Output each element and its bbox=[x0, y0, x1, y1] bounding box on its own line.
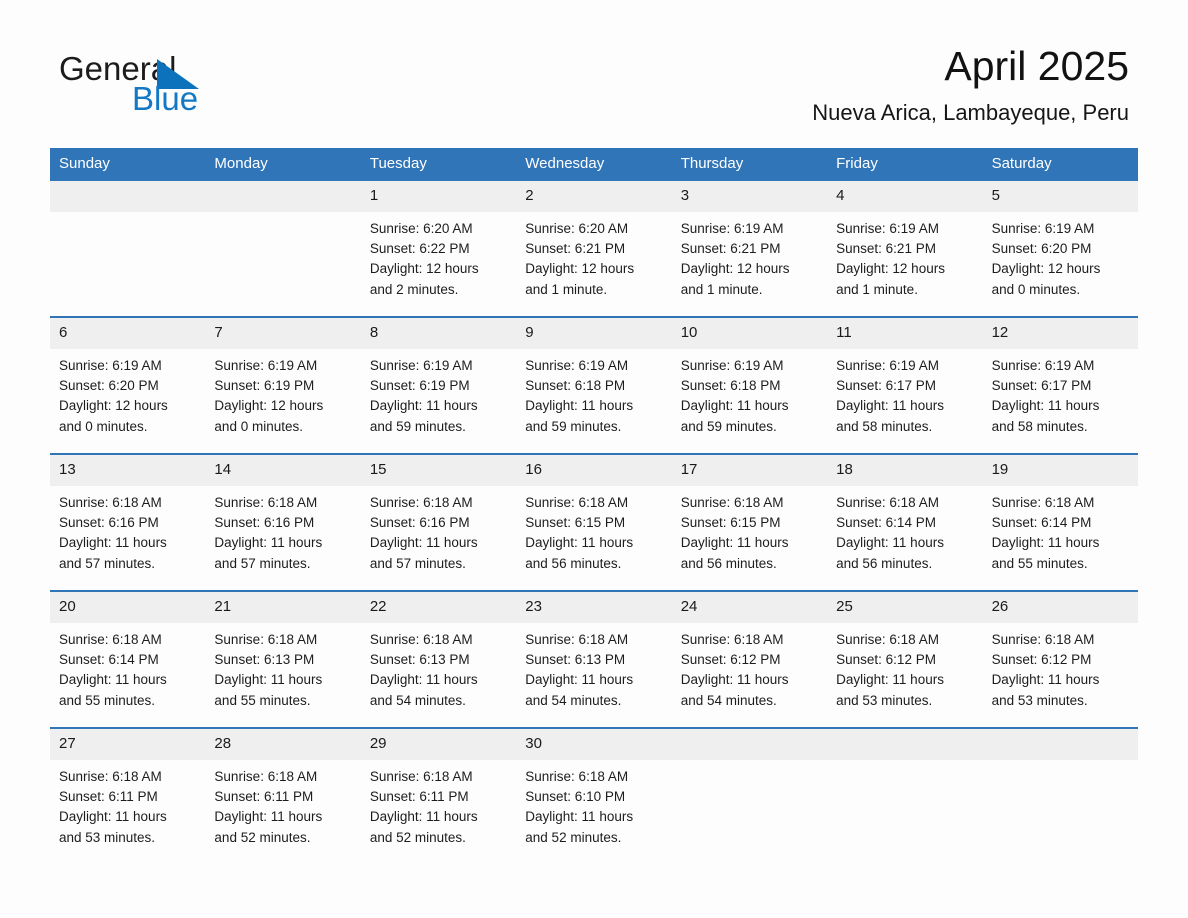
day-detail-line: Sunrise: 6:19 AM bbox=[214, 356, 350, 376]
day-detail-line: Daylight: 11 hours bbox=[214, 670, 350, 690]
day-detail-line: Sunset: 6:20 PM bbox=[992, 239, 1128, 259]
day-cell-empty bbox=[983, 760, 1138, 864]
day-detail-line: and 56 minutes. bbox=[525, 554, 661, 574]
day-number[interactable]: 27 bbox=[50, 729, 205, 760]
day-cell[interactable]: Sunrise: 6:18 AMSunset: 6:16 PMDaylight:… bbox=[205, 486, 360, 590]
day-detail-line: Sunset: 6:21 PM bbox=[681, 239, 817, 259]
day-number[interactable]: 28 bbox=[205, 729, 360, 760]
day-cell[interactable]: Sunrise: 6:18 AMSunset: 6:13 PMDaylight:… bbox=[205, 623, 360, 727]
day-cell[interactable]: Sunrise: 6:19 AMSunset: 6:21 PMDaylight:… bbox=[672, 212, 827, 316]
day-detail-line: Sunset: 6:11 PM bbox=[370, 787, 506, 807]
day-cell[interactable]: Sunrise: 6:18 AMSunset: 6:12 PMDaylight:… bbox=[827, 623, 982, 727]
day-detail-line: Sunset: 6:19 PM bbox=[214, 376, 350, 396]
day-detail-line: and 57 minutes. bbox=[370, 554, 506, 574]
day-detail-line: Sunrise: 6:18 AM bbox=[681, 493, 817, 513]
day-number[interactable]: 22 bbox=[361, 592, 516, 623]
day-detail-line: Daylight: 11 hours bbox=[59, 533, 195, 553]
day-detail-line: Sunset: 6:17 PM bbox=[836, 376, 972, 396]
day-number[interactable]: 15 bbox=[361, 455, 516, 486]
weekday-header-wednesday: Wednesday bbox=[516, 148, 671, 181]
calendar-week-row: 27282930Sunrise: 6:18 AMSunset: 6:11 PMD… bbox=[50, 727, 1138, 864]
page-subtitle: Nueva Arica, Lambayeque, Peru bbox=[812, 98, 1129, 128]
day-detail-line: Sunset: 6:19 PM bbox=[370, 376, 506, 396]
day-detail-line: Daylight: 11 hours bbox=[525, 533, 661, 553]
calendar-week-row: 13141516171819Sunrise: 6:18 AMSunset: 6:… bbox=[50, 453, 1138, 590]
day-number-empty bbox=[827, 729, 982, 760]
day-detail-line: Sunrise: 6:18 AM bbox=[214, 493, 350, 513]
day-detail-line: Daylight: 11 hours bbox=[992, 670, 1128, 690]
weekday-header-tuesday: Tuesday bbox=[361, 148, 516, 181]
day-detail-line: and 55 minutes. bbox=[59, 691, 195, 711]
day-cell[interactable]: Sunrise: 6:19 AMSunset: 6:19 PMDaylight:… bbox=[205, 349, 360, 453]
day-detail-line: Daylight: 11 hours bbox=[214, 807, 350, 827]
day-cell[interactable]: Sunrise: 6:18 AMSunset: 6:14 PMDaylight:… bbox=[50, 623, 205, 727]
masthead: General Blue April 2025 Nueva Arica, Lam… bbox=[50, 0, 1138, 148]
day-number[interactable]: 26 bbox=[983, 592, 1138, 623]
day-detail-line: and 53 minutes. bbox=[836, 691, 972, 711]
day-detail-line: Daylight: 11 hours bbox=[525, 807, 661, 827]
day-cell-empty bbox=[672, 760, 827, 864]
day-detail-line: Daylight: 11 hours bbox=[836, 396, 972, 416]
day-detail-line: Sunset: 6:18 PM bbox=[525, 376, 661, 396]
day-detail-line: and 54 minutes. bbox=[525, 691, 661, 711]
day-detail-line: Sunrise: 6:18 AM bbox=[214, 767, 350, 787]
day-detail-line: and 54 minutes. bbox=[370, 691, 506, 711]
day-number[interactable]: 4 bbox=[827, 181, 982, 212]
calendar-page: General Blue April 2025 Nueva Arica, Lam… bbox=[0, 0, 1188, 918]
day-detail-line: and 58 minutes. bbox=[992, 417, 1128, 437]
day-detail-line: and 55 minutes. bbox=[992, 554, 1128, 574]
week-daynumber-band: 20212223242526 bbox=[50, 592, 1138, 623]
day-detail-line: Sunset: 6:10 PM bbox=[525, 787, 661, 807]
day-cell[interactable]: Sunrise: 6:18 AMSunset: 6:11 PMDaylight:… bbox=[50, 760, 205, 864]
day-number[interactable]: 11 bbox=[827, 318, 982, 349]
day-detail-line: and 53 minutes. bbox=[992, 691, 1128, 711]
day-detail-line: Sunset: 6:13 PM bbox=[370, 650, 506, 670]
day-detail-line: Sunset: 6:16 PM bbox=[214, 513, 350, 533]
day-detail-line: Sunrise: 6:18 AM bbox=[59, 630, 195, 650]
day-detail-line: and 1 minute. bbox=[836, 280, 972, 300]
day-detail-line: Sunset: 6:18 PM bbox=[681, 376, 817, 396]
day-cell[interactable]: Sunrise: 6:18 AMSunset: 6:12 PMDaylight:… bbox=[672, 623, 827, 727]
day-detail-line: Daylight: 11 hours bbox=[525, 670, 661, 690]
day-number[interactable]: 14 bbox=[205, 455, 360, 486]
day-detail-line: Sunrise: 6:18 AM bbox=[370, 630, 506, 650]
day-number[interactable]: 19 bbox=[983, 455, 1138, 486]
calendar-week-row: 20212223242526Sunrise: 6:18 AMSunset: 6:… bbox=[50, 590, 1138, 727]
day-detail-line: Sunrise: 6:19 AM bbox=[59, 356, 195, 376]
day-detail-line: Sunrise: 6:18 AM bbox=[59, 493, 195, 513]
day-detail-line: Sunset: 6:15 PM bbox=[525, 513, 661, 533]
day-detail-line: Sunset: 6:12 PM bbox=[836, 650, 972, 670]
day-number[interactable]: 1 bbox=[361, 181, 516, 212]
day-detail-line: and 59 minutes. bbox=[370, 417, 506, 437]
day-detail-line: and 58 minutes. bbox=[836, 417, 972, 437]
day-detail-line: and 0 minutes. bbox=[992, 280, 1128, 300]
day-detail-line: Sunset: 6:22 PM bbox=[370, 239, 506, 259]
day-detail-line: Sunrise: 6:18 AM bbox=[836, 630, 972, 650]
day-number[interactable]: 29 bbox=[361, 729, 516, 760]
day-detail-line: Daylight: 11 hours bbox=[525, 396, 661, 416]
day-detail-line: Sunrise: 6:18 AM bbox=[525, 767, 661, 787]
day-cell[interactable]: Sunrise: 6:19 AMSunset: 6:19 PMDaylight:… bbox=[361, 349, 516, 453]
day-detail-line: and 59 minutes. bbox=[681, 417, 817, 437]
calendar-grid: SundayMondayTuesdayWednesdayThursdayFrid… bbox=[50, 148, 1138, 864]
general-blue-logo[interactable]: General Blue bbox=[59, 50, 259, 120]
day-cell[interactable]: Sunrise: 6:19 AMSunset: 6:17 PMDaylight:… bbox=[827, 349, 982, 453]
day-detail-line: Sunset: 6:17 PM bbox=[992, 376, 1128, 396]
day-detail-line: Sunset: 6:12 PM bbox=[992, 650, 1128, 670]
week-daynumber-band: 13141516171819 bbox=[50, 455, 1138, 486]
day-detail-line: Sunrise: 6:18 AM bbox=[214, 630, 350, 650]
day-detail-line: and 56 minutes. bbox=[681, 554, 817, 574]
day-number[interactable]: 20 bbox=[50, 592, 205, 623]
day-cell[interactable]: Sunrise: 6:18 AMSunset: 6:10 PMDaylight:… bbox=[516, 760, 671, 864]
day-number[interactable]: 23 bbox=[516, 592, 671, 623]
day-detail-line: and 55 minutes. bbox=[214, 691, 350, 711]
day-detail-line: and 52 minutes. bbox=[525, 828, 661, 848]
day-detail-line: Sunrise: 6:18 AM bbox=[370, 493, 506, 513]
day-detail-line: Daylight: 11 hours bbox=[370, 807, 506, 827]
day-detail-line: Daylight: 11 hours bbox=[370, 533, 506, 553]
day-number[interactable]: 6 bbox=[50, 318, 205, 349]
week-cell-bodies: Sunrise: 6:18 AMSunset: 6:11 PMDaylight:… bbox=[50, 760, 1138, 864]
day-number[interactable]: 10 bbox=[672, 318, 827, 349]
day-detail-line: Sunset: 6:13 PM bbox=[525, 650, 661, 670]
day-number[interactable]: 24 bbox=[672, 592, 827, 623]
calendar-week-row: 6789101112Sunrise: 6:19 AMSunset: 6:20 P… bbox=[50, 316, 1138, 453]
day-detail-line: Sunset: 6:14 PM bbox=[992, 513, 1128, 533]
week-daynumber-band: 12345 bbox=[50, 181, 1138, 212]
day-number[interactable]: 13 bbox=[50, 455, 205, 486]
day-cell[interactable]: Sunrise: 6:18 AMSunset: 6:13 PMDaylight:… bbox=[516, 623, 671, 727]
day-detail-line: Sunrise: 6:19 AM bbox=[681, 356, 817, 376]
weekday-header-saturday: Saturday bbox=[983, 148, 1138, 181]
day-cell[interactable]: Sunrise: 6:18 AMSunset: 6:14 PMDaylight:… bbox=[983, 486, 1138, 590]
day-detail-line: Sunrise: 6:19 AM bbox=[836, 356, 972, 376]
day-number[interactable]: 5 bbox=[983, 181, 1138, 212]
day-detail-line: and 0 minutes. bbox=[214, 417, 350, 437]
day-detail-line: Sunset: 6:21 PM bbox=[836, 239, 972, 259]
day-detail-line: Sunset: 6:11 PM bbox=[214, 787, 350, 807]
day-detail-line: Sunrise: 6:19 AM bbox=[836, 219, 972, 239]
day-detail-line: and 53 minutes. bbox=[59, 828, 195, 848]
day-detail-line: and 1 minute. bbox=[525, 280, 661, 300]
day-detail-line: Daylight: 12 hours bbox=[681, 259, 817, 279]
day-number[interactable]: 30 bbox=[516, 729, 671, 760]
day-detail-line: Daylight: 12 hours bbox=[525, 259, 661, 279]
day-detail-line: and 56 minutes. bbox=[836, 554, 972, 574]
day-detail-line: Sunset: 6:13 PM bbox=[214, 650, 350, 670]
calendar-week-row: 12345Sunrise: 6:20 AMSunset: 6:22 PMDayl… bbox=[50, 181, 1138, 316]
day-detail-line: and 54 minutes. bbox=[681, 691, 817, 711]
day-detail-line: Sunset: 6:11 PM bbox=[59, 787, 195, 807]
day-number[interactable]: 21 bbox=[205, 592, 360, 623]
day-detail-line: Sunrise: 6:18 AM bbox=[59, 767, 195, 787]
day-detail-line: Sunset: 6:14 PM bbox=[59, 650, 195, 670]
day-detail-line: Sunrise: 6:20 AM bbox=[525, 219, 661, 239]
day-number[interactable]: 7 bbox=[205, 318, 360, 349]
day-detail-line: Daylight: 11 hours bbox=[992, 533, 1128, 553]
day-detail-line: and 52 minutes. bbox=[370, 828, 506, 848]
week-cell-bodies: Sunrise: 6:18 AMSunset: 6:14 PMDaylight:… bbox=[50, 623, 1138, 727]
day-detail-line: Sunrise: 6:19 AM bbox=[681, 219, 817, 239]
day-detail-line: and 1 minute. bbox=[681, 280, 817, 300]
day-cell[interactable]: Sunrise: 6:18 AMSunset: 6:12 PMDaylight:… bbox=[983, 623, 1138, 727]
day-detail-line: Daylight: 11 hours bbox=[214, 533, 350, 553]
day-detail-line: Sunrise: 6:18 AM bbox=[681, 630, 817, 650]
day-number-empty bbox=[205, 181, 360, 212]
day-number-empty bbox=[672, 729, 827, 760]
day-cell[interactable]: Sunrise: 6:18 AMSunset: 6:11 PMDaylight:… bbox=[361, 760, 516, 864]
day-detail-line: Sunrise: 6:19 AM bbox=[992, 219, 1128, 239]
week-cell-bodies: Sunrise: 6:18 AMSunset: 6:16 PMDaylight:… bbox=[50, 486, 1138, 590]
day-number[interactable]: 9 bbox=[516, 318, 671, 349]
day-cell[interactable]: Sunrise: 6:18 AMSunset: 6:14 PMDaylight:… bbox=[827, 486, 982, 590]
day-detail-line: Sunrise: 6:18 AM bbox=[370, 767, 506, 787]
day-detail-line: and 2 minutes. bbox=[370, 280, 506, 300]
day-detail-line: Daylight: 12 hours bbox=[214, 396, 350, 416]
weekday-header-sunday: Sunday bbox=[50, 148, 205, 181]
day-detail-line: Sunrise: 6:18 AM bbox=[525, 630, 661, 650]
day-number[interactable]: 18 bbox=[827, 455, 982, 486]
day-detail-line: Sunrise: 6:18 AM bbox=[836, 493, 972, 513]
day-cell[interactable]: Sunrise: 6:18 AMSunset: 6:15 PMDaylight:… bbox=[672, 486, 827, 590]
day-detail-line: Daylight: 11 hours bbox=[59, 670, 195, 690]
day-cell[interactable]: Sunrise: 6:18 AMSunset: 6:16 PMDaylight:… bbox=[50, 486, 205, 590]
day-number-empty bbox=[983, 729, 1138, 760]
day-detail-line: Sunset: 6:15 PM bbox=[681, 513, 817, 533]
day-cell-empty bbox=[50, 212, 205, 316]
weekday-header-friday: Friday bbox=[827, 148, 982, 181]
day-detail-line: Daylight: 12 hours bbox=[59, 396, 195, 416]
day-cell[interactable]: Sunrise: 6:19 AMSunset: 6:17 PMDaylight:… bbox=[983, 349, 1138, 453]
day-number[interactable]: 8 bbox=[361, 318, 516, 349]
weekday-header-row: SundayMondayTuesdayWednesdayThursdayFrid… bbox=[50, 148, 1138, 181]
day-detail-line: Daylight: 11 hours bbox=[681, 533, 817, 553]
day-detail-line: Sunset: 6:16 PM bbox=[370, 513, 506, 533]
day-detail-line: Daylight: 11 hours bbox=[836, 670, 972, 690]
day-detail-line: and 0 minutes. bbox=[59, 417, 195, 437]
day-detail-line: Daylight: 11 hours bbox=[59, 807, 195, 827]
day-detail-line: and 52 minutes. bbox=[214, 828, 350, 848]
day-cell[interactable]: Sunrise: 6:18 AMSunset: 6:16 PMDaylight:… bbox=[361, 486, 516, 590]
day-detail-line: Daylight: 11 hours bbox=[370, 670, 506, 690]
day-detail-line: Sunrise: 6:19 AM bbox=[992, 356, 1128, 376]
calendar-weeks: 12345Sunrise: 6:20 AMSunset: 6:22 PMDayl… bbox=[50, 181, 1138, 864]
day-cell[interactable]: Sunrise: 6:19 AMSunset: 6:18 PMDaylight:… bbox=[672, 349, 827, 453]
day-detail-line: Daylight: 12 hours bbox=[370, 259, 506, 279]
day-cell[interactable]: Sunrise: 6:19 AMSunset: 6:21 PMDaylight:… bbox=[827, 212, 982, 316]
day-detail-line: Daylight: 11 hours bbox=[992, 396, 1128, 416]
title-block: April 2025 Nueva Arica, Lambayeque, Peru bbox=[812, 40, 1129, 128]
day-detail-line: and 57 minutes. bbox=[59, 554, 195, 574]
day-number[interactable]: 2 bbox=[516, 181, 671, 212]
week-cell-bodies: Sunrise: 6:20 AMSunset: 6:22 PMDaylight:… bbox=[50, 212, 1138, 316]
day-cell-empty bbox=[205, 212, 360, 316]
day-detail-line: Daylight: 11 hours bbox=[681, 396, 817, 416]
day-number[interactable]: 25 bbox=[827, 592, 982, 623]
weekday-header-thursday: Thursday bbox=[672, 148, 827, 181]
day-detail-line: and 57 minutes. bbox=[214, 554, 350, 574]
day-cell[interactable]: Sunrise: 6:19 AMSunset: 6:20 PMDaylight:… bbox=[983, 212, 1138, 316]
day-detail-line: Daylight: 11 hours bbox=[681, 670, 817, 690]
day-cell[interactable]: Sunrise: 6:18 AMSunset: 6:11 PMDaylight:… bbox=[205, 760, 360, 864]
day-cell[interactable]: Sunrise: 6:20 AMSunset: 6:22 PMDaylight:… bbox=[361, 212, 516, 316]
day-number[interactable]: 12 bbox=[983, 318, 1138, 349]
day-cell[interactable]: Sunrise: 6:18 AMSunset: 6:13 PMDaylight:… bbox=[361, 623, 516, 727]
week-cell-bodies: Sunrise: 6:19 AMSunset: 6:20 PMDaylight:… bbox=[50, 349, 1138, 453]
day-detail-line: Daylight: 12 hours bbox=[836, 259, 972, 279]
day-detail-line: Sunset: 6:16 PM bbox=[59, 513, 195, 533]
day-cell[interactable]: Sunrise: 6:20 AMSunset: 6:21 PMDaylight:… bbox=[516, 212, 671, 316]
day-number[interactable]: 3 bbox=[672, 181, 827, 212]
day-detail-line: Sunrise: 6:18 AM bbox=[992, 493, 1128, 513]
day-detail-line: Daylight: 11 hours bbox=[370, 396, 506, 416]
day-detail-line: Daylight: 12 hours bbox=[992, 259, 1128, 279]
day-number-empty bbox=[50, 181, 205, 212]
day-detail-line: Sunrise: 6:18 AM bbox=[992, 630, 1128, 650]
weekday-header-monday: Monday bbox=[205, 148, 360, 181]
day-number[interactable]: 17 bbox=[672, 455, 827, 486]
logo-text-blue: Blue bbox=[132, 80, 198, 118]
day-number[interactable]: 16 bbox=[516, 455, 671, 486]
day-detail-line: Sunset: 6:12 PM bbox=[681, 650, 817, 670]
day-detail-line: Sunset: 6:21 PM bbox=[525, 239, 661, 259]
day-cell[interactable]: Sunrise: 6:19 AMSunset: 6:18 PMDaylight:… bbox=[516, 349, 671, 453]
week-daynumber-band: 6789101112 bbox=[50, 318, 1138, 349]
day-cell-empty bbox=[827, 760, 982, 864]
day-detail-line: Sunrise: 6:18 AM bbox=[525, 493, 661, 513]
day-cell[interactable]: Sunrise: 6:18 AMSunset: 6:15 PMDaylight:… bbox=[516, 486, 671, 590]
day-detail-line: and 59 minutes. bbox=[525, 417, 661, 437]
day-detail-line: Daylight: 11 hours bbox=[836, 533, 972, 553]
day-detail-line: Sunrise: 6:19 AM bbox=[370, 356, 506, 376]
page-title: April 2025 bbox=[812, 40, 1129, 92]
day-detail-line: Sunrise: 6:19 AM bbox=[525, 356, 661, 376]
week-daynumber-band: 27282930 bbox=[50, 729, 1138, 760]
day-detail-line: Sunset: 6:14 PM bbox=[836, 513, 972, 533]
day-cell[interactable]: Sunrise: 6:19 AMSunset: 6:20 PMDaylight:… bbox=[50, 349, 205, 453]
day-detail-line: Sunset: 6:20 PM bbox=[59, 376, 195, 396]
day-detail-line: Sunrise: 6:20 AM bbox=[370, 219, 506, 239]
